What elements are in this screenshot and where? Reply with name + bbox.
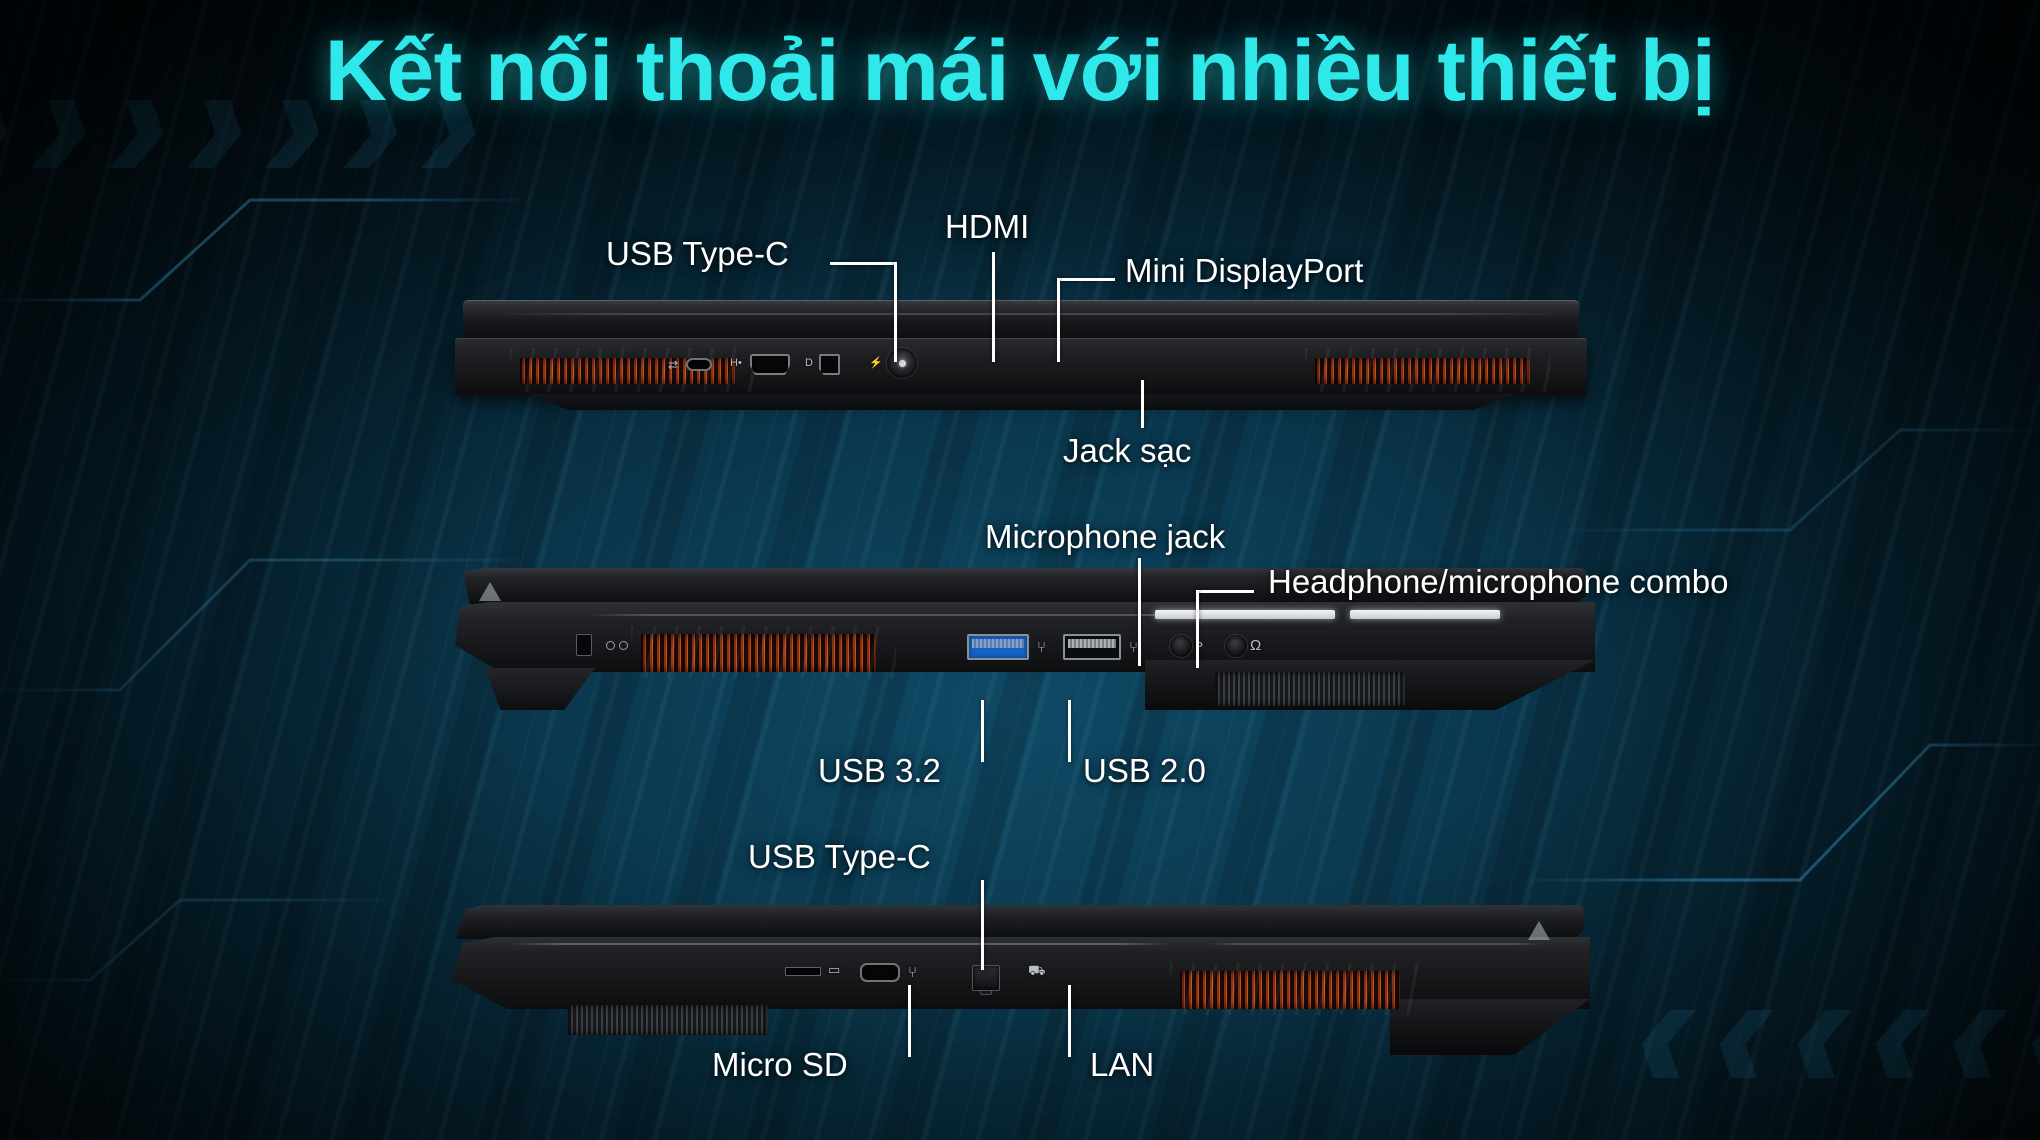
right-side-seam-b [1210, 943, 1540, 945]
leader-hdmi-v [992, 252, 995, 362]
left-side-light-bar-1 [1155, 610, 1335, 619]
right-side-port-usb-type-c[interactable] [860, 963, 900, 982]
callout-hdmi: HDMI [945, 208, 1029, 246]
left-side-vent-shroud [631, 626, 896, 678]
page-title: Kết nối thoải mái với nhiều thiết bị [0, 22, 2040, 121]
callout-headphone-combo: Headphone/microphone combo [1268, 563, 1728, 601]
rear-vent-left-shroud [510, 348, 755, 392]
right-side-screen-edge [456, 905, 1584, 939]
leader-headphone-combo-v [1196, 590, 1199, 668]
rear-lid [463, 300, 1579, 340]
right-side-intake-fins [568, 1005, 768, 1035]
left-side-port-usb-20[interactable] [1063, 634, 1121, 660]
left-side-kensington-lock-slot [576, 634, 592, 656]
sd-card-glyph-icon: ▭ [828, 963, 840, 976]
usb-32-tongue [972, 639, 1024, 648]
callout-usb-type-c-rear: USB Type-C [606, 235, 789, 273]
right-side-port-micro-sd[interactable] [785, 967, 821, 976]
status-led-1-icon [606, 641, 615, 650]
rear-foot [507, 394, 1535, 410]
right-side-port-lan[interactable] [972, 965, 1000, 991]
lan-glyph-icon: ⛟ [1028, 963, 1046, 977]
rear-lid-seam [493, 313, 1565, 315]
leader-mini-dp-v [1057, 278, 1060, 362]
left-side-port-microphone-jack[interactable] [1170, 635, 1192, 657]
left-side-port-usb-32[interactable] [967, 634, 1029, 660]
power-glyph-icon: ⚡ [869, 358, 883, 369]
usb-20-tongue [1068, 639, 1116, 648]
laptop-rear-view: ⇄ H• D ⚡ [455, 300, 1587, 410]
usb-glyph-icon-3: ⑂ [908, 965, 917, 980]
right-side-rear-wedge [1390, 999, 1590, 1055]
left-side-exhaust-fins [1215, 672, 1405, 706]
callout-micro-sd: Micro SD [712, 1046, 848, 1084]
right-side-corner-triangle-icon [1528, 921, 1550, 940]
left-side-front-foot [485, 668, 595, 710]
leader-usb-20-v [1068, 700, 1071, 762]
left-side-corner-triangle-icon [479, 582, 501, 601]
right-side-vent-shroud [1170, 963, 1420, 1015]
leader-usb-32-v [981, 700, 984, 762]
displayport-glyph-icon: D [805, 358, 813, 369]
leader-mini-dp-h [1057, 278, 1115, 281]
leader-micro-sd-v [908, 985, 911, 1057]
leader-usb-type-c-right-v [981, 880, 984, 970]
callout-microphone-jack: Microphone jack [985, 518, 1225, 556]
callout-mini-displayport: Mini DisplayPort [1125, 252, 1363, 290]
left-side-port-headphone-combo[interactable] [1225, 635, 1247, 657]
callout-jack-sac: Jack sạc [1063, 432, 1191, 470]
rear-port-hdmi[interactable] [750, 354, 790, 375]
rear-port-power-pin [899, 360, 906, 367]
status-led-2-icon [619, 641, 628, 650]
leader-microphone-jack-v [1138, 558, 1141, 666]
left-side-light-bar-2 [1350, 610, 1500, 619]
left-side-seam-a [585, 614, 1225, 616]
laptop-right-side-view: ▭ ⑂ ⛟ [450, 905, 1590, 1055]
leader-headphone-combo-h [1196, 590, 1254, 593]
rear-port-mini-displayport[interactable] [819, 354, 840, 375]
leader-usb-type-c-rear-h [830, 262, 896, 265]
rear-port-usb-type-c[interactable] [686, 358, 712, 371]
callout-lan: LAN [1090, 1046, 1154, 1084]
infographic-stage: Kết nối thoải mái với nhiều thiết bị ⇄ H… [0, 0, 2040, 1140]
rear-vent-right-shroud [1305, 348, 1550, 392]
leader-jack-sac-v [1141, 380, 1144, 428]
right-side-seam-a [510, 943, 1170, 945]
usb-glyph-icon-1: ⑂ [1037, 640, 1046, 655]
callout-usb-type-c-right: USB Type-C [748, 838, 931, 876]
leader-lan-v [1068, 985, 1071, 1057]
hdmi-glyph-icon: H• [730, 358, 742, 369]
usb-c-glyph-icon: ⇄ [668, 359, 678, 371]
leader-usb-type-c-rear-v [894, 262, 897, 362]
headphone-glyph-icon: Ω [1250, 638, 1261, 653]
callout-usb-32: USB 3.2 [818, 752, 941, 790]
callout-usb-20: USB 2.0 [1083, 752, 1206, 790]
usb-glyph-icon-2: ⑂ [1129, 640, 1138, 655]
